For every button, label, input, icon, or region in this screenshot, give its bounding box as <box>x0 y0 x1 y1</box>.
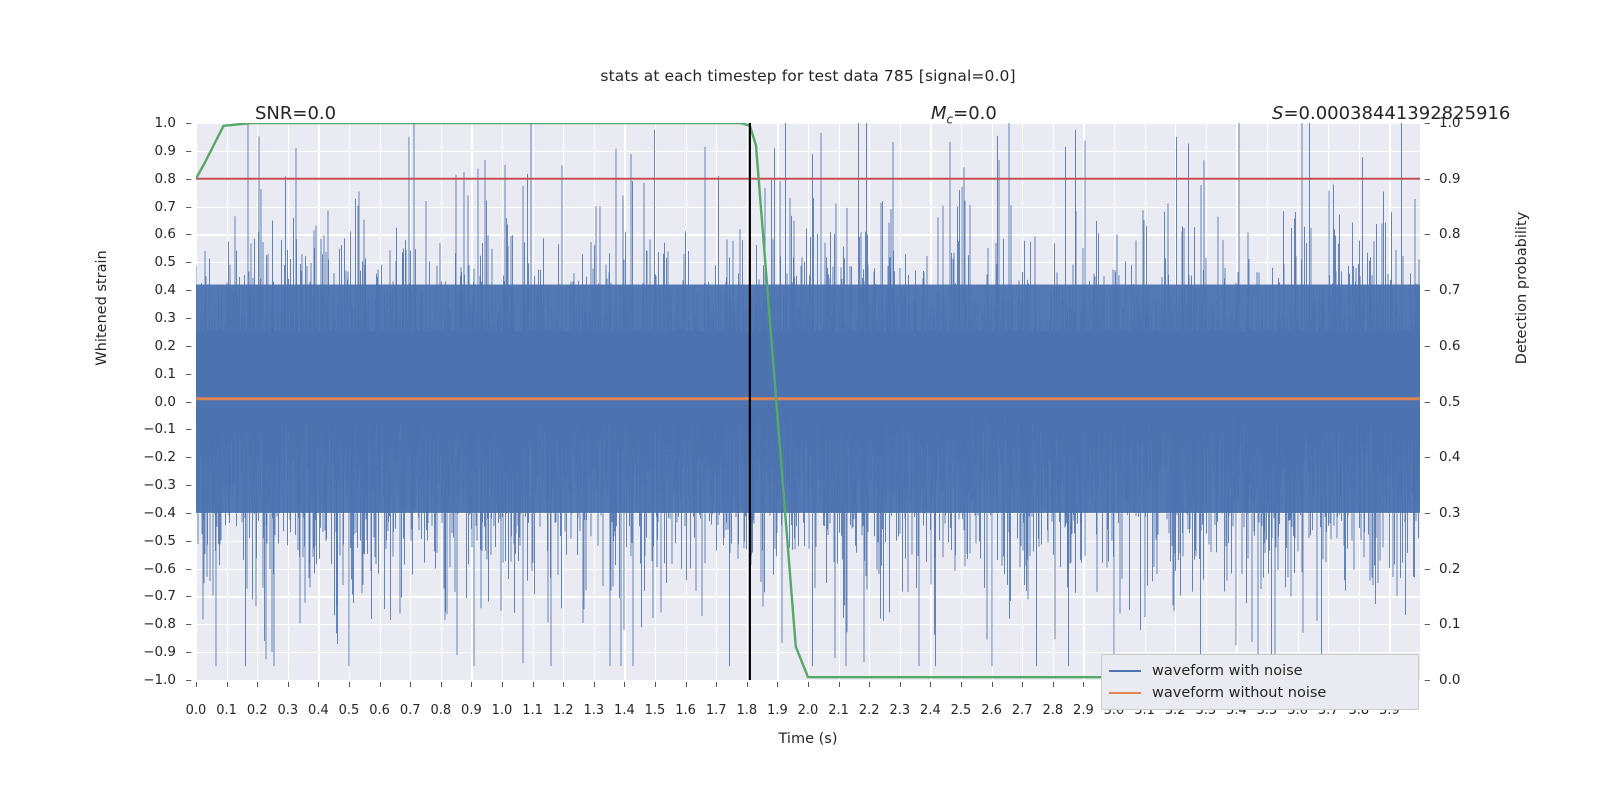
y-axis-left-tick-label: −0.7– <box>143 588 192 604</box>
y-axis-left-tick-label: 0.1– <box>155 366 192 382</box>
x-axis-tick-label: 1.6 <box>675 703 696 718</box>
x-axis-tick-label: 1.1 <box>522 703 543 718</box>
x-axis-tick-mark <box>716 682 717 687</box>
y-axis-right-tick-label: –0.5 <box>1424 394 1460 410</box>
x-axis-tick-label: 2.6 <box>981 703 1002 718</box>
figure-canvas: stats at each timestep for test data 785… <box>0 0 1600 800</box>
x-axis-tick-label: 2.9 <box>1073 703 1094 718</box>
annotation-snr-value: 0.0 <box>307 103 336 124</box>
x-axis-tick-mark <box>992 682 993 687</box>
legend-swatch-clean <box>1109 692 1141 694</box>
x-axis-tick-mark <box>1022 682 1023 687</box>
y-axis-right-tick-label: –0.0 <box>1424 672 1460 688</box>
y-axis-left-tick-label: 1.0– <box>155 115 192 131</box>
x-axis-tick-label: 0.7 <box>400 703 421 718</box>
x-axis-tick-label: 1.7 <box>706 703 727 718</box>
y-axis-left-tick-label: −0.5– <box>143 533 192 549</box>
y-axis-left-tick-label: −0.1– <box>143 421 192 437</box>
x-axis-tick-label: 0.8 <box>430 703 451 718</box>
x-axis-tick-label: 1.0 <box>492 703 513 718</box>
y-axis-left-tick-label: −0.2– <box>143 449 192 465</box>
y-axis-left-tick-label: −0.9– <box>143 644 192 660</box>
x-axis-tick-mark <box>563 682 564 687</box>
x-axis-tick-mark <box>686 682 687 687</box>
y-axis-right-tick-label: –0.2 <box>1424 561 1460 577</box>
x-axis-tick-label: 0.0 <box>186 703 207 718</box>
legend-item-clean: waveform without noise <box>1109 682 1409 704</box>
annotation-chirp-mass: Mc=0.0 <box>931 103 997 127</box>
x-axis-tick-label: 0.5 <box>339 703 360 718</box>
x-axis-tick-label: 2.2 <box>859 703 880 718</box>
chart-title: stats at each timestep for test data 785… <box>196 67 1420 85</box>
x-axis-tick-label: 0.2 <box>247 703 268 718</box>
legend-label-noise: waveform with noise <box>1152 663 1303 679</box>
x-axis-tick-label: 2.4 <box>920 703 941 718</box>
x-axis-tick-label: 2.3 <box>889 703 910 718</box>
y-axis-left-tick-label: −0.4– <box>143 505 192 521</box>
x-axis-tick-mark <box>257 682 258 687</box>
x-axis-tick-mark <box>961 682 962 687</box>
x-axis-tick-mark <box>288 682 289 687</box>
legend-swatch-noise <box>1109 670 1141 672</box>
x-axis-tick-mark <box>808 682 809 687</box>
y-axis-left-tick-label: 0.9– <box>155 143 192 159</box>
y-axis-left-tick-label: 0.2– <box>155 338 192 354</box>
legend-box: waveform with noise waveform without noi… <box>1101 654 1419 710</box>
y-axis-right-tick-label: –0.8 <box>1424 226 1460 242</box>
annotation-mc-value: =0.0 <box>953 103 997 124</box>
y-axis-left-tick-label: 0.3– <box>155 310 192 326</box>
y-axis-right-tick-label: –0.9 <box>1424 171 1460 187</box>
annotation-s-value: =0.00038441392825916 <box>1283 103 1510 124</box>
x-axis-tick-label: 0.3 <box>277 703 298 718</box>
x-axis-tick-label: 0.4 <box>308 703 329 718</box>
x-axis-tick-label: 2.8 <box>1042 703 1063 718</box>
x-axis-tick-label: 1.2 <box>553 703 574 718</box>
y-axis-left-tick-label: −1.0– <box>143 672 192 688</box>
x-axis-tick-label: 0.6 <box>369 703 390 718</box>
x-axis-tick-mark <box>869 682 870 687</box>
y-axis-left-tick-label: 0.8– <box>155 171 192 187</box>
x-axis-tick-mark <box>533 682 534 687</box>
x-axis-tick-mark <box>318 682 319 687</box>
y-axis-left-tick-label: 0.0– <box>155 394 192 410</box>
annotation-s-symbol: S <box>1272 103 1283 124</box>
x-axis-tick-label: 1.8 <box>736 703 757 718</box>
x-axis-tick-mark <box>410 682 411 687</box>
annotation-snr-label: SNR= <box>255 103 307 124</box>
y-axis-left-tick-label: −0.8– <box>143 616 192 632</box>
y-axis-right-label: Detection probability <box>1514 158 1530 418</box>
x-axis-tick-label: 0.9 <box>461 703 482 718</box>
y-axis-left-tick-label: 0.4– <box>155 282 192 298</box>
x-axis-tick-mark <box>747 682 748 687</box>
x-axis-tick-mark <box>471 682 472 687</box>
y-axis-left-tick-label: 0.7– <box>155 199 192 215</box>
x-axis-tick-mark <box>839 682 840 687</box>
x-axis-tick-mark <box>594 682 595 687</box>
legend-label-clean: waveform without noise <box>1152 685 1326 701</box>
x-axis-tick-mark <box>502 682 503 687</box>
x-axis-tick-mark <box>1083 682 1084 687</box>
x-axis-tick-mark <box>380 682 381 687</box>
x-axis-tick-mark <box>655 682 656 687</box>
x-axis-tick-label: 2.7 <box>1012 703 1033 718</box>
y-axis-left-tick-label: −0.6– <box>143 561 192 577</box>
y-axis-right-tick-label: –0.6 <box>1424 338 1460 354</box>
x-axis-tick-label: 2.0 <box>798 703 819 718</box>
x-axis-tick-mark <box>196 682 197 687</box>
y-axis-right-tick-label: –0.1 <box>1424 616 1460 632</box>
y-axis-right-tick-label: –0.3 <box>1424 505 1460 521</box>
x-axis-tick-label: 2.1 <box>828 703 849 718</box>
x-axis-tick-mark <box>227 682 228 687</box>
x-axis-tick-label: 2.5 <box>951 703 972 718</box>
y-axis-right-tick-label: –0.4 <box>1424 449 1460 465</box>
x-axis-tick-mark <box>777 682 778 687</box>
x-axis-label: Time (s) <box>196 731 1420 747</box>
overlay-layer <box>196 123 1420 680</box>
x-axis-tick-label: 1.3 <box>583 703 604 718</box>
y-axis-left-tick-label: 0.6– <box>155 226 192 242</box>
annotation-mc-symbol: M <box>931 103 947 124</box>
x-axis-tick-label: 1.5 <box>645 703 666 718</box>
x-axis-tick-mark <box>1053 682 1054 687</box>
y-axis-left-label: Whitened strain <box>94 188 110 428</box>
x-axis-tick-label: 0.1 <box>216 703 237 718</box>
annotation-snr: SNR=0.0 <box>255 103 336 124</box>
x-axis-tick-mark <box>930 682 931 687</box>
y-axis-right-tick-label: –0.7 <box>1424 282 1460 298</box>
legend-item-noise: waveform with noise <box>1109 660 1409 682</box>
x-axis-tick-mark <box>441 682 442 687</box>
y-axis-left-tick-label: −0.3– <box>143 477 192 493</box>
annotation-statistic: S=0.00038441392825916 <box>1272 103 1510 124</box>
x-axis-tick-mark <box>349 682 350 687</box>
plot-area <box>196 123 1420 680</box>
x-axis-tick-mark <box>624 682 625 687</box>
x-axis-tick-label: 1.9 <box>767 703 788 718</box>
x-axis-tick-mark <box>900 682 901 687</box>
x-axis-tick-label: 1.4 <box>614 703 635 718</box>
y-axis-left-tick-label: 0.5– <box>155 254 192 270</box>
